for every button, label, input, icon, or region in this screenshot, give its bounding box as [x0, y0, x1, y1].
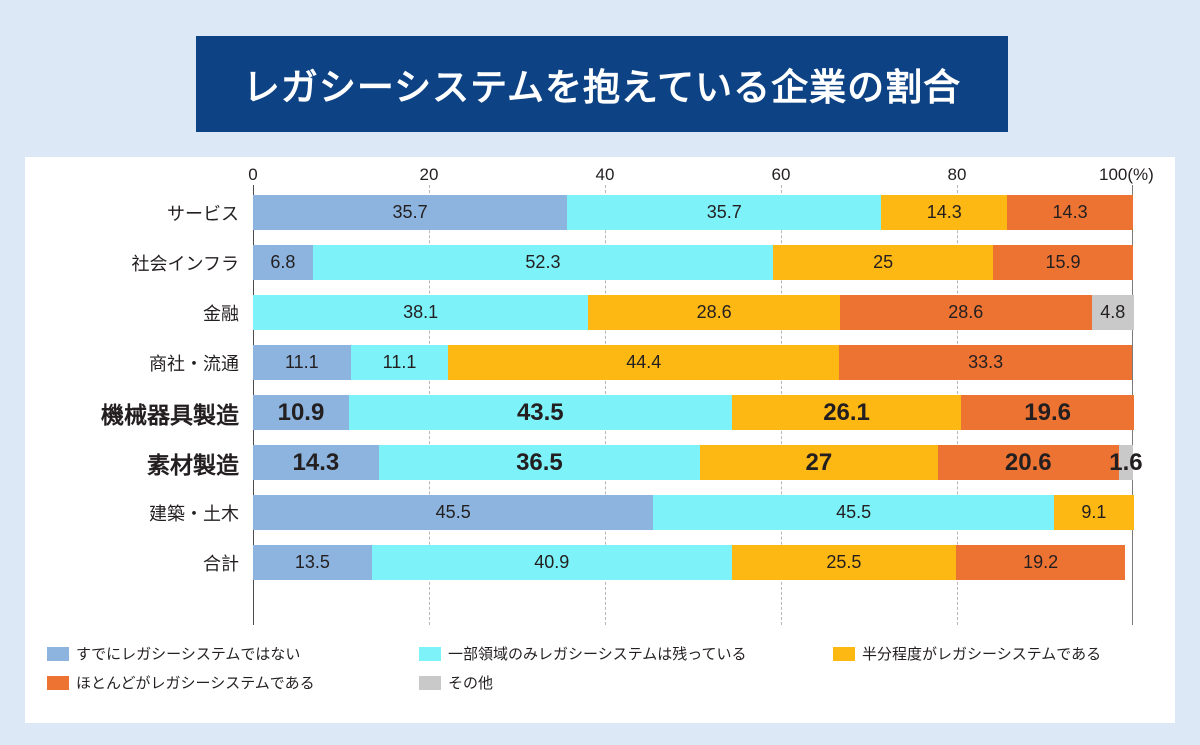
bar-value-label: 19.6 — [1024, 399, 1071, 427]
chart-row: 商社・流通11.111.144.433.3 — [253, 345, 1133, 380]
bar-value-label: 44.4 — [626, 352, 661, 373]
bar-value-label: 26.1 — [823, 399, 870, 427]
chart-row: 建築・土木45.545.59.1 — [253, 495, 1133, 530]
legend-swatch-icon — [47, 647, 69, 661]
legend-item[interactable]: すでにレガシーシステムではない — [47, 643, 300, 664]
bar-segment[interactable]: 1.6 — [1119, 445, 1133, 480]
chart-row: 合計13.540.925.519.2 — [253, 545, 1133, 580]
x-axis-tick-80: 80 — [948, 165, 967, 185]
bar-segment[interactable]: 35.7 — [253, 195, 567, 230]
bar-segment[interactable]: 43.5 — [349, 395, 732, 430]
chart-container: 020406080100(%) サービス35.735.714.314.3社会イン… — [25, 157, 1175, 723]
chart-row: 金融38.128.628.64.8 — [253, 295, 1133, 330]
legend-item[interactable]: その他 — [419, 672, 493, 693]
bar-value-label: 20.6 — [1005, 449, 1052, 477]
bar-value-label: 11.1 — [285, 352, 319, 373]
bar-segment[interactable]: 33.3 — [839, 345, 1132, 380]
page-title: レガシーシステムを抱えている企業の割合 — [243, 57, 961, 111]
bar-segment[interactable]: 14.3 — [253, 445, 379, 480]
x-axis-tick-labels: 020406080100(%) — [253, 165, 1133, 187]
category-label-4: 機械器具製造 — [101, 396, 239, 430]
category-label-2: 金融 — [203, 300, 239, 326]
bar-segment[interactable]: 19.6 — [961, 395, 1133, 430]
bar-segment[interactable]: 11.1 — [253, 345, 351, 380]
chart-card: 020406080100(%) サービス35.735.714.314.3社会イン… — [25, 157, 1175, 723]
category-label-1: 社会インフラ — [132, 250, 239, 276]
legend-item[interactable]: ほとんどがレガシーシステムである — [47, 672, 315, 693]
bar-value-label: 4.8 — [1100, 302, 1125, 323]
legend-label: 一部領域のみレガシーシステムは残っている — [448, 643, 747, 664]
legend-label: ほとんどがレガシーシステムである — [76, 672, 315, 693]
legend-item[interactable]: 半分程度がレガシーシステムである — [833, 643, 1101, 664]
category-label-7: 合計 — [203, 550, 239, 576]
bar-segment[interactable]: 45.5 — [253, 495, 653, 530]
bar-segment[interactable]: 14.3 — [881, 195, 1007, 230]
legend-label: 半分程度がレガシーシステムである — [862, 643, 1101, 664]
bar-value-label: 14.3 — [1053, 202, 1088, 223]
bar-value-label: 19.2 — [1023, 552, 1058, 573]
x-axis-tick-40: 40 — [596, 165, 615, 185]
chart-plot-area: サービス35.735.714.314.3社会インフラ6.852.32515.9金… — [253, 185, 1133, 625]
stacked-bar: 14.336.52720.61.6 — [253, 445, 1133, 480]
bar-value-label: 27 — [805, 449, 832, 477]
legend-swatch-icon — [47, 676, 69, 690]
chart-row: サービス35.735.714.314.3 — [253, 195, 1133, 230]
stacked-bar: 13.540.925.519.2 — [253, 545, 1133, 580]
bar-segment[interactable]: 20.6 — [938, 445, 1119, 480]
legend-label: すでにレガシーシステムではない — [76, 643, 300, 664]
bar-value-label: 15.9 — [1046, 252, 1081, 273]
bar-value-label: 52.3 — [525, 252, 560, 273]
stacked-bar: 11.111.144.433.3 — [253, 345, 1133, 380]
bar-segment[interactable]: 28.6 — [840, 295, 1092, 330]
bar-value-label: 13.5 — [295, 552, 330, 573]
bar-value-label: 25.5 — [826, 552, 861, 573]
bar-value-label: 38.1 — [403, 302, 438, 323]
x-axis-tick-60: 60 — [772, 165, 791, 185]
bar-segment[interactable]: 38.1 — [253, 295, 588, 330]
bar-segment[interactable]: 19.2 — [956, 545, 1125, 580]
bar-value-label: 11.1 — [383, 352, 417, 373]
category-label-0: サービス — [167, 200, 239, 226]
bar-value-label: 14.3 — [927, 202, 962, 223]
bar-value-label: 9.1 — [1081, 502, 1106, 523]
stacked-bar: 10.943.526.119.6 — [253, 395, 1133, 430]
bar-segment[interactable]: 14.3 — [1007, 195, 1133, 230]
legend-swatch-icon — [419, 647, 441, 661]
page-root: レガシーシステムを抱えている企業の割合 020406080100(%) サービス… — [0, 0, 1200, 745]
x-axis-tick-0: 0 — [248, 165, 257, 185]
bar-value-label: 28.6 — [948, 302, 983, 323]
stacked-bar: 35.735.714.314.3 — [253, 195, 1133, 230]
bar-value-label: 25 — [873, 252, 893, 273]
legend-row: ほとんどがレガシーシステムであるその他 — [47, 672, 1157, 694]
bar-value-label: 36.5 — [516, 449, 563, 477]
category-label-6: 建築・土木 — [149, 500, 239, 526]
bar-value-label: 45.5 — [436, 502, 471, 523]
x-axis-tick-20: 20 — [420, 165, 439, 185]
bar-segment[interactable]: 25.5 — [732, 545, 956, 580]
bar-value-label: 10.9 — [278, 399, 325, 427]
bar-segment[interactable]: 4.8 — [1092, 295, 1134, 330]
chart-row: 素材製造14.336.52720.61.6 — [253, 445, 1133, 480]
bar-value-label: 28.6 — [697, 302, 732, 323]
bar-segment[interactable]: 40.9 — [372, 545, 732, 580]
bar-segment[interactable]: 27 — [700, 445, 938, 480]
stacked-bar: 45.545.59.1 — [253, 495, 1133, 530]
bar-value-label: 40.9 — [534, 552, 569, 573]
bar-segment[interactable]: 45.5 — [653, 495, 1053, 530]
bar-value-label: 14.3 — [293, 449, 340, 477]
bar-value-label: 43.5 — [517, 399, 564, 427]
bar-segment[interactable]: 36.5 — [379, 445, 700, 480]
legend-row: すでにレガシーシステムではない一部領域のみレガシーシステムは残っている半分程度が… — [47, 643, 1157, 665]
bar-value-label: 35.7 — [393, 202, 428, 223]
bar-segment[interactable]: 15.9 — [993, 245, 1133, 280]
legend-label: その他 — [448, 672, 493, 693]
category-label-5: 素材製造 — [147, 446, 239, 480]
x-axis-tick-100: 100(%) — [1099, 165, 1154, 185]
bar-value-label: 35.7 — [707, 202, 742, 223]
bar-value-label: 45.5 — [836, 502, 871, 523]
bar-segment[interactable]: 25 — [773, 245, 993, 280]
bar-segment[interactable]: 10.9 — [253, 395, 349, 430]
chart-legend: すでにレガシーシステムではない一部領域のみレガシーシステムは残っている半分程度が… — [47, 643, 1157, 701]
bar-segment[interactable]: 28.6 — [588, 295, 840, 330]
stacked-bar: 6.852.32515.9 — [253, 245, 1133, 280]
bar-segment[interactable]: 26.1 — [732, 395, 962, 430]
category-label-3: 商社・流通 — [149, 350, 239, 376]
stacked-bar: 38.128.628.64.8 — [253, 295, 1133, 330]
bar-segment[interactable]: 35.7 — [567, 195, 881, 230]
bar-segment[interactable]: 11.1 — [351, 345, 449, 380]
bar-segment[interactable]: 13.5 — [253, 545, 372, 580]
legend-item[interactable]: 一部領域のみレガシーシステムは残っている — [419, 643, 747, 664]
bar-segment[interactable]: 9.1 — [1054, 495, 1134, 530]
bar-segment[interactable]: 6.8 — [253, 245, 313, 280]
bar-segment[interactable]: 44.4 — [448, 345, 839, 380]
legend-swatch-icon — [419, 676, 441, 690]
chart-title-banner: レガシーシステムを抱えている企業の割合 — [196, 36, 1008, 132]
bar-value-label: 6.8 — [270, 252, 295, 273]
bar-value-label: 33.3 — [968, 352, 1003, 373]
legend-swatch-icon — [833, 647, 855, 661]
chart-row: 機械器具製造10.943.526.119.6 — [253, 395, 1133, 430]
chart-row: 社会インフラ6.852.32515.9 — [253, 245, 1133, 280]
bar-segment[interactable]: 52.3 — [313, 245, 773, 280]
